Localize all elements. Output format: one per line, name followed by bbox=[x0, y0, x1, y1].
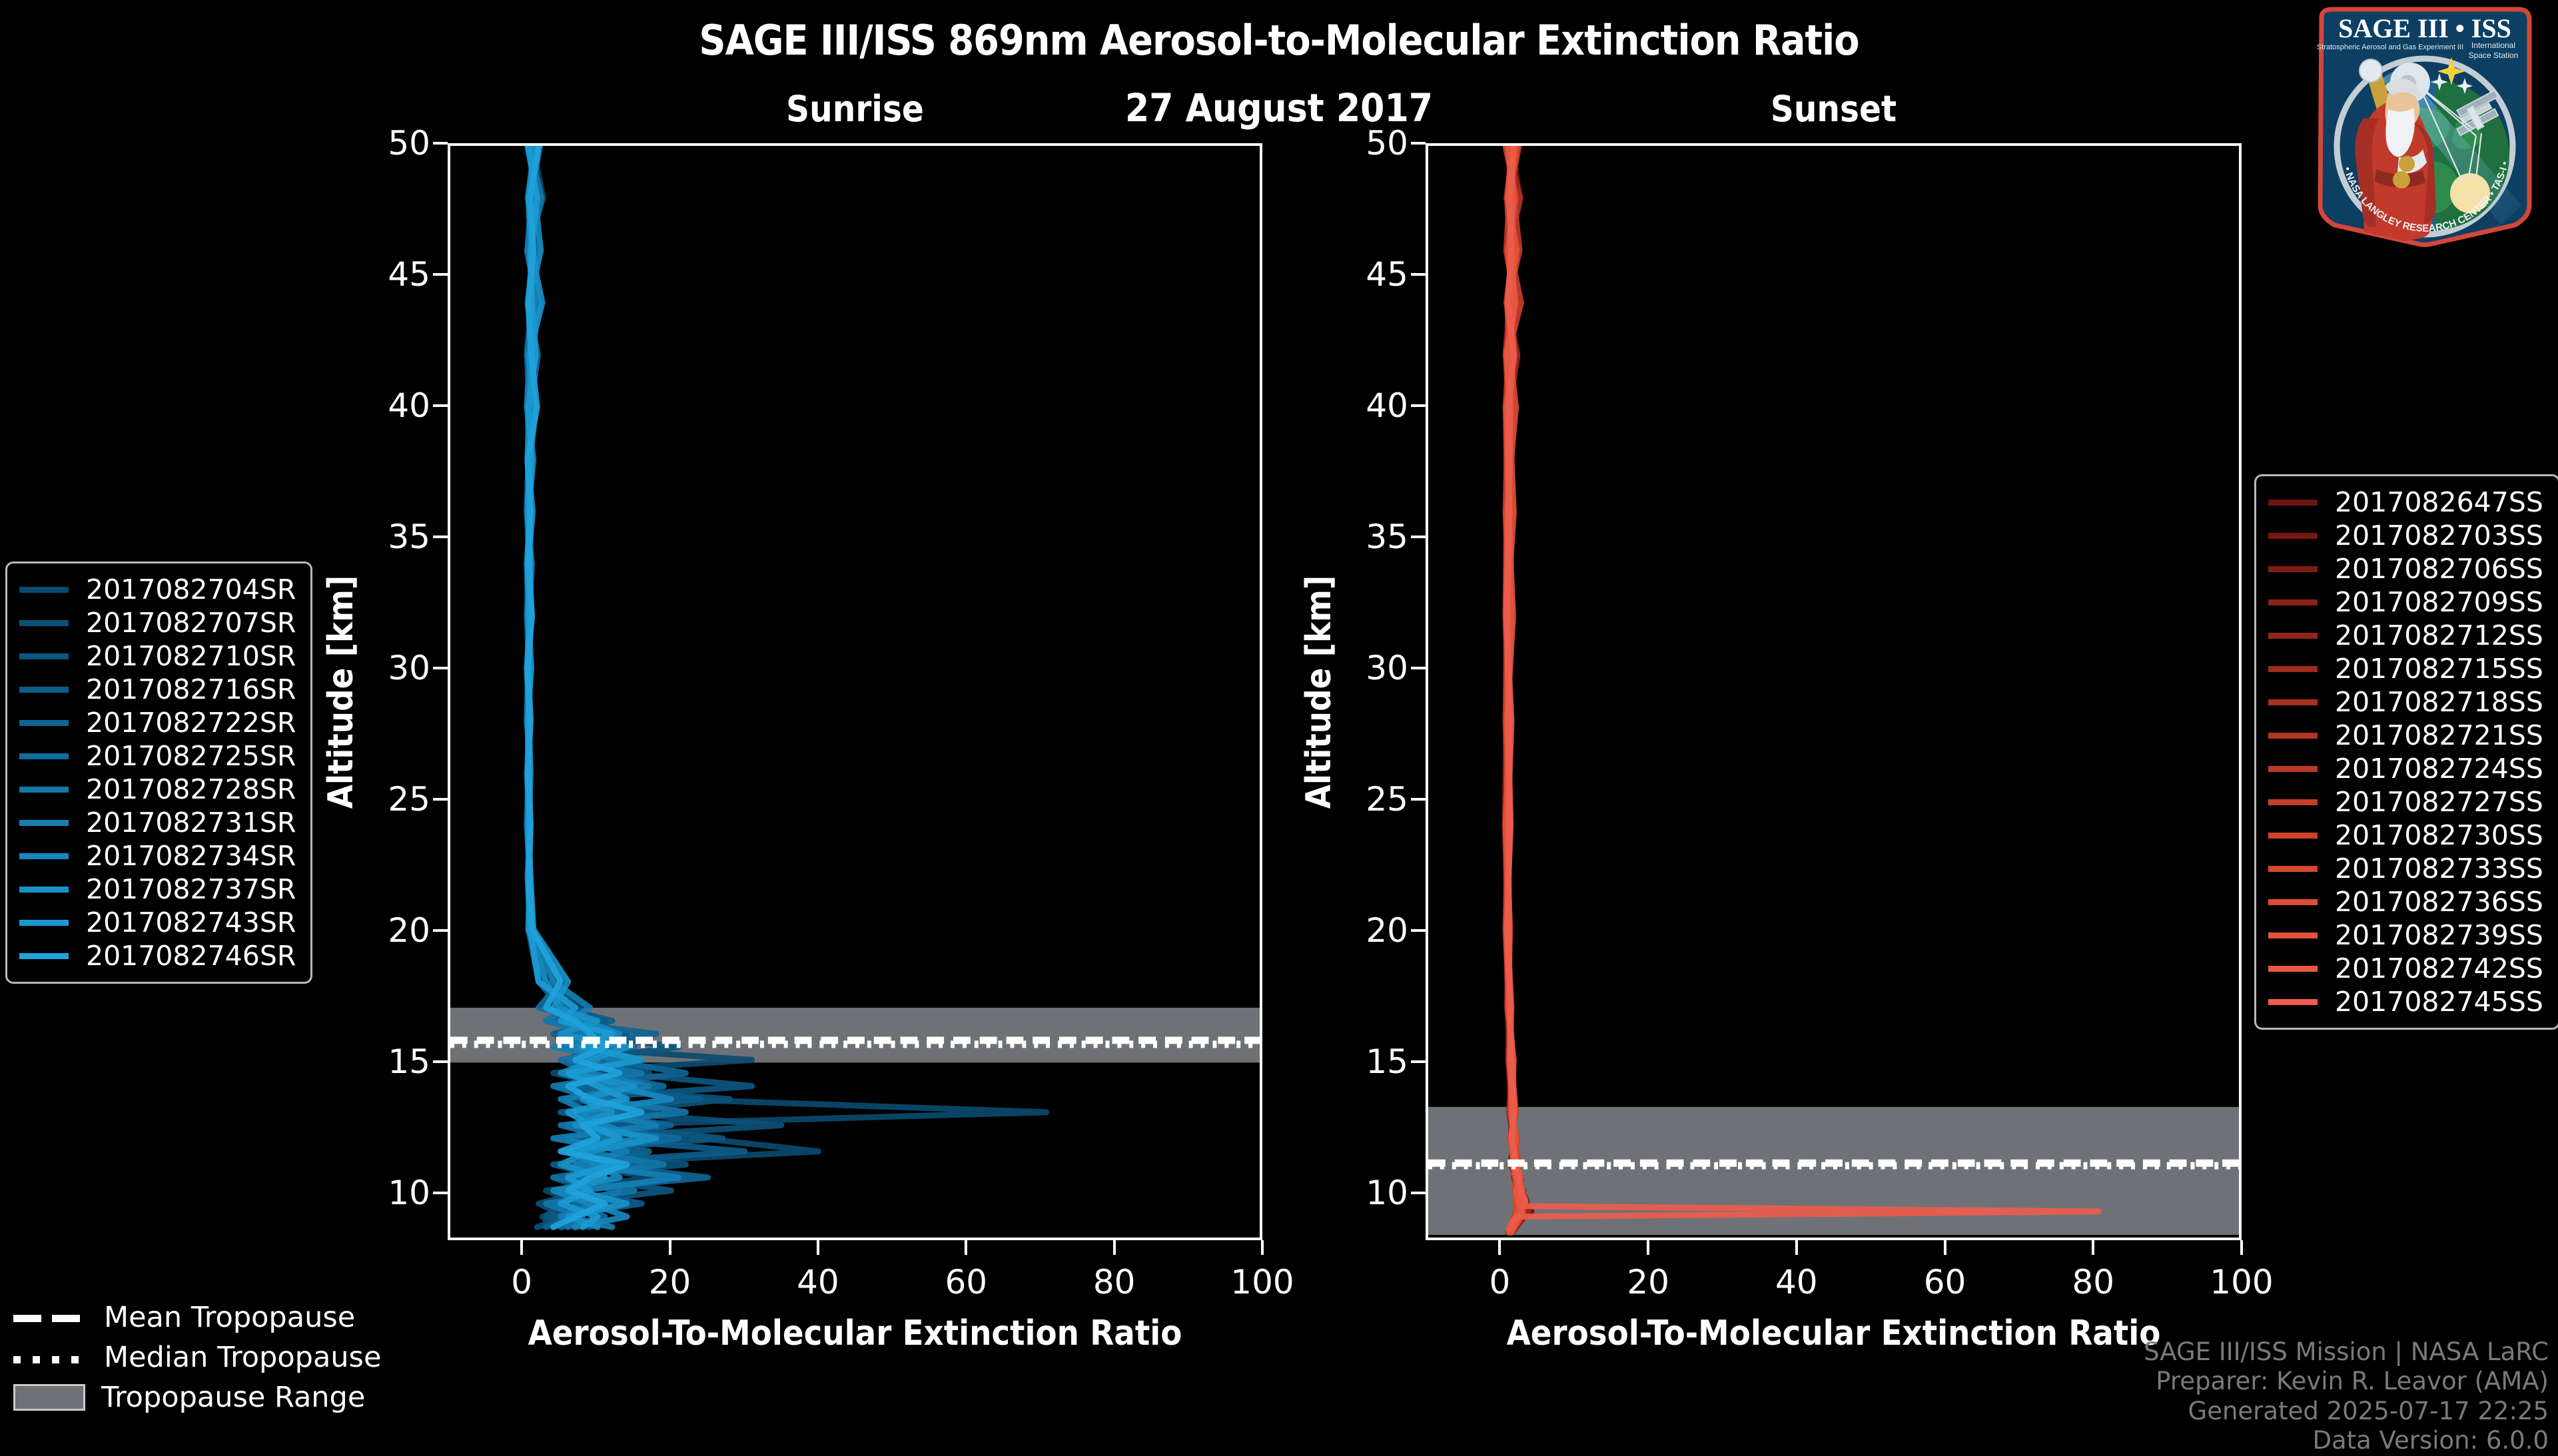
y-tick-mark bbox=[433, 1060, 448, 1063]
credits-generated: Generated 2025-07-17 22:25 bbox=[2144, 1397, 2549, 1426]
legend-color-swatch bbox=[2268, 633, 2318, 639]
x-tick-label: 100 bbox=[2210, 1263, 2273, 1301]
y-tick-mark bbox=[1411, 273, 1426, 276]
legend-color-swatch bbox=[19, 820, 69, 826]
dotted-line-icon bbox=[13, 1349, 88, 1366]
x-tick-mark bbox=[1647, 1240, 1649, 1255]
legend-color-swatch bbox=[2268, 599, 2318, 605]
y-tick-mark bbox=[1411, 1192, 1426, 1194]
credits-preparer: Preparer: Kevin R. Leavor (AMA) bbox=[2144, 1367, 2549, 1396]
x-tick-label: 60 bbox=[945, 1263, 987, 1301]
sunset-x-axis-label: Aerosol-To-Molecular Extinction Ratio bbox=[1426, 1313, 2242, 1353]
legend-item-2017082727SS[interactable]: 2017082727SS bbox=[2268, 785, 2543, 819]
x-tick-mark bbox=[817, 1240, 819, 1255]
y-tick-mark bbox=[433, 667, 448, 669]
legend-item-2017082725SR[interactable]: 2017082725SR bbox=[19, 739, 296, 773]
legend-item-label: 2017082647SS bbox=[2335, 486, 2543, 518]
y-tick-mark bbox=[1411, 536, 1426, 538]
sunrise-plot-panel: 101520253035404550020406080100 Aerosol-T… bbox=[448, 143, 1262, 1240]
credits-mission: SAGE III/ISS Mission | NASA LaRC bbox=[2144, 1337, 2549, 1367]
y-tick-mark bbox=[433, 929, 448, 932]
legend-item-label: 2017082745SS bbox=[2335, 986, 2543, 1018]
legend-color-swatch bbox=[2268, 999, 2318, 1005]
legend-item-label: 2017082724SS bbox=[2335, 753, 2543, 785]
legend-item-2017082722SR[interactable]: 2017082722SR bbox=[19, 706, 296, 739]
legend-item-label: 2017082739SS bbox=[2335, 919, 2543, 951]
patch-title: SAGE III•ISS bbox=[2338, 13, 2511, 43]
legend-color-swatch bbox=[19, 787, 69, 793]
legend-item-label: 2017082730SS bbox=[2335, 819, 2543, 851]
y-tick-label: 15 bbox=[1366, 1042, 1408, 1081]
legend-item-2017082707SR[interactable]: 2017082707SR bbox=[19, 606, 296, 639]
legend-item-label: 2017082709SS bbox=[2335, 586, 2543, 618]
sunset-legend[interactable]: 2017082647SS2017082703SS2017082706SS2017… bbox=[2254, 474, 2558, 1030]
x-tick-mark bbox=[1261, 1240, 1264, 1255]
legend-color-swatch bbox=[2268, 966, 2318, 972]
legend-item-2017082706SS[interactable]: 2017082706SS bbox=[2268, 552, 2543, 585]
legend-item-2017082731SR[interactable]: 2017082731SR bbox=[19, 806, 296, 839]
sunrise-x-axis-label: Aerosol-To-Molecular Extinction Ratio bbox=[448, 1313, 1262, 1353]
x-tick-mark bbox=[2092, 1240, 2094, 1255]
legend-item-mean-tropopause: Mean Tropopause bbox=[13, 1297, 381, 1337]
y-tick-label: 30 bbox=[388, 649, 430, 687]
legend-color-swatch bbox=[19, 753, 69, 759]
sunrise-plot-area bbox=[450, 146, 1260, 1238]
y-tick-label: 10 bbox=[388, 1174, 430, 1212]
x-tick-mark bbox=[1795, 1240, 1798, 1255]
credits-data-version: Data Version: 6.0.0 bbox=[2144, 1426, 2549, 1455]
y-tick-label: 30 bbox=[1366, 649, 1408, 687]
y-tick-mark bbox=[433, 536, 448, 538]
x-tick-mark bbox=[669, 1240, 671, 1255]
legend-item-2017082703SS[interactable]: 2017082703SS bbox=[2268, 519, 2543, 552]
y-tick-label: 20 bbox=[388, 911, 430, 950]
legend-color-swatch bbox=[19, 887, 69, 893]
y-tick-mark bbox=[433, 1192, 448, 1194]
y-tick-label: 50 bbox=[1366, 124, 1408, 163]
legend-item-2017082728SR[interactable]: 2017082728SR bbox=[19, 773, 296, 806]
y-tick-label: 10 bbox=[1366, 1174, 1408, 1212]
legend-item-2017082734SR[interactable]: 2017082734SR bbox=[19, 839, 296, 873]
legend-item-2017082745SS[interactable]: 2017082745SS bbox=[2268, 985, 2543, 1018]
credits-block: SAGE III/ISS Mission | NASA LaRC Prepare… bbox=[2144, 1337, 2549, 1456]
x-tick-label: 80 bbox=[1093, 1263, 1136, 1301]
y-tick-label: 50 bbox=[388, 124, 430, 163]
legend-item-label: 2017082722SR bbox=[86, 707, 296, 739]
y-tick-mark bbox=[433, 273, 448, 276]
y-tick-label: 45 bbox=[1366, 255, 1408, 294]
legend-item-2017082730SS[interactable]: 2017082730SS bbox=[2268, 819, 2543, 852]
y-tick-label: 15 bbox=[388, 1042, 430, 1081]
sunset-panel-title: Sunset bbox=[1426, 88, 2242, 130]
legend-color-swatch bbox=[2268, 566, 2318, 572]
x-tick-mark bbox=[1944, 1240, 1946, 1255]
y-tick-label: 25 bbox=[1366, 780, 1408, 819]
sunset-plot-panel: 101520253035404550020406080100 Aerosol-T… bbox=[1426, 143, 2242, 1240]
sunrise-y-axis-label: Altitude [km] bbox=[321, 575, 361, 808]
legend-item-label: 2017082743SR bbox=[86, 907, 296, 938]
legend-item-2017082736SS[interactable]: 2017082736SS bbox=[2268, 885, 2543, 918]
legend-item-label: 2017082734SR bbox=[86, 840, 296, 872]
legend-color-swatch bbox=[19, 920, 69, 926]
legend-item-2017082742SS[interactable]: 2017082742SS bbox=[2268, 952, 2543, 985]
legend-color-swatch bbox=[2268, 533, 2318, 539]
legend-item-2017082704SR[interactable]: 2017082704SR bbox=[19, 573, 296, 606]
sunrise-panel-title: Sunrise bbox=[448, 88, 1262, 130]
patch-caption-right-2: Space Station bbox=[2469, 51, 2519, 60]
x-tick-mark bbox=[520, 1240, 523, 1255]
legend-color-swatch bbox=[19, 687, 69, 693]
legend-item-tropopause-range: Tropopause Range bbox=[13, 1377, 381, 1417]
legend-item-label: 2017082707SR bbox=[86, 607, 296, 639]
series-line bbox=[1507, 146, 2098, 1230]
legend-item-label: 2017082704SR bbox=[86, 573, 296, 605]
legend-color-swatch bbox=[19, 620, 69, 626]
legend-color-swatch bbox=[2268, 733, 2318, 739]
x-tick-label: 60 bbox=[1924, 1263, 1966, 1301]
x-tick-label: 100 bbox=[1230, 1263, 1294, 1301]
legend-item-2017082746SR[interactable]: 2017082746SR bbox=[19, 939, 296, 972]
legend-color-swatch bbox=[2268, 899, 2318, 905]
legend-item-label: 2017082718SS bbox=[2335, 686, 2543, 718]
legend-item-2017082710SR[interactable]: 2017082710SR bbox=[19, 639, 296, 673]
y-tick-label: 45 bbox=[388, 255, 430, 294]
page-title: SAGE III/ISS 869nm Aerosol-to-Molecular … bbox=[0, 16, 2558, 65]
patch-caption-right-1: International bbox=[2471, 41, 2515, 50]
legend-item-label: 2017082737SR bbox=[86, 873, 296, 905]
legend-item-2017082724SS[interactable]: 2017082724SS bbox=[2268, 752, 2543, 785]
legend-item-median-tropopause: Median Tropopause bbox=[13, 1337, 381, 1377]
legend-color-swatch bbox=[19, 587, 69, 593]
x-tick-mark bbox=[1113, 1240, 1116, 1255]
legend-item-2017082709SS[interactable]: 2017082709SS bbox=[2268, 585, 2543, 619]
sunset-plot-area bbox=[1428, 146, 2239, 1238]
legend-item-label: 2017082742SS bbox=[2335, 952, 2543, 984]
x-tick-label: 80 bbox=[2072, 1263, 2114, 1301]
y-tick-label: 20 bbox=[1366, 911, 1408, 950]
legend-item-label: 2017082716SR bbox=[86, 673, 296, 705]
legend-color-swatch bbox=[2268, 932, 2318, 938]
y-tick-mark bbox=[433, 798, 448, 801]
sunset-plot-frame bbox=[1426, 143, 2242, 1240]
mean-tropopause-label: Mean Tropopause bbox=[104, 1301, 355, 1334]
y-tick-label: 40 bbox=[388, 386, 430, 425]
x-tick-mark bbox=[965, 1240, 967, 1255]
x-tick-mark bbox=[2240, 1240, 2243, 1255]
legend-item-label: 2017082721SS bbox=[2335, 719, 2543, 751]
y-tick-mark bbox=[433, 404, 448, 407]
legend-item-label: 2017082746SR bbox=[86, 940, 296, 972]
legend-item-label: 2017082712SS bbox=[2335, 619, 2543, 651]
legend-item-label: 2017082725SR bbox=[86, 740, 296, 772]
y-tick-mark bbox=[1411, 929, 1426, 932]
legend-color-swatch bbox=[2268, 866, 2318, 872]
y-tick-mark bbox=[433, 142, 448, 145]
x-tick-mark bbox=[1498, 1240, 1501, 1255]
legend-color-swatch bbox=[2268, 699, 2318, 705]
legend-item-2017082721SS[interactable]: 2017082721SS bbox=[2268, 719, 2543, 752]
legend-item-label: 2017082703SS bbox=[2335, 520, 2543, 551]
range-swatch-icon bbox=[13, 1384, 85, 1411]
y-tick-mark bbox=[1411, 667, 1426, 669]
sunset-y-axis-label: Altitude [km] bbox=[1299, 575, 1339, 808]
sage-iii-iss-mission-patch-logo: BALL • NASA LANGLEY RESEARCH CENTER • TA… bbox=[2302, 5, 2548, 249]
legend-color-swatch bbox=[19, 953, 69, 959]
dashed-line-icon bbox=[13, 1309, 88, 1326]
legend-item-2017082737SR[interactable]: 2017082737SR bbox=[19, 873, 296, 906]
tropopause-range-label: Tropopause Range bbox=[101, 1381, 365, 1414]
y-tick-label: 35 bbox=[1366, 518, 1408, 556]
legend-item-label: 2017082706SS bbox=[2335, 553, 2543, 585]
legend-item-label: 2017082710SR bbox=[86, 640, 296, 672]
legend-item-2017082715SS[interactable]: 2017082715SS bbox=[2268, 652, 2543, 685]
x-tick-label: 40 bbox=[1775, 1263, 1818, 1301]
legend-color-swatch bbox=[19, 853, 69, 859]
sunrise-legend[interactable]: 2017082704SR2017082707SR2017082710SR2017… bbox=[5, 561, 312, 984]
legend-color-swatch bbox=[2268, 799, 2318, 805]
legend-item-label: 2017082715SS bbox=[2335, 653, 2543, 685]
y-tick-mark bbox=[1411, 798, 1426, 801]
legend-item-2017082718SS[interactable]: 2017082718SS bbox=[2268, 685, 2543, 719]
y-tick-label: 40 bbox=[1366, 386, 1408, 425]
legend-color-swatch bbox=[2268, 500, 2318, 506]
legend-color-swatch bbox=[19, 720, 69, 726]
legend-item-2017082739SS[interactable]: 2017082739SS bbox=[2268, 918, 2543, 952]
x-tick-label: 20 bbox=[1627, 1263, 1669, 1301]
y-tick-label: 25 bbox=[388, 780, 430, 819]
x-tick-label: 0 bbox=[1489, 1263, 1510, 1301]
y-tick-mark bbox=[1411, 404, 1426, 407]
legend-item-label: 2017082736SS bbox=[2335, 886, 2543, 918]
x-tick-label: 0 bbox=[511, 1263, 532, 1301]
legend-item-2017082716SR[interactable]: 2017082716SR bbox=[19, 673, 296, 706]
x-tick-label: 40 bbox=[797, 1263, 839, 1301]
y-tick-label: 35 bbox=[388, 518, 430, 556]
legend-item-2017082712SS[interactable]: 2017082712SS bbox=[2268, 619, 2543, 652]
x-tick-label: 20 bbox=[649, 1263, 691, 1301]
legend-item-label: 2017082731SR bbox=[86, 807, 296, 839]
median-tropopause-label: Median Tropopause bbox=[104, 1341, 381, 1374]
legend-item-2017082743SR[interactable]: 2017082743SR bbox=[19, 906, 296, 939]
legend-item-label: 2017082727SS bbox=[2335, 786, 2543, 818]
legend-color-swatch bbox=[19, 653, 69, 659]
legend-item-label: 2017082733SS bbox=[2335, 853, 2543, 885]
legend-item-2017082733SS[interactable]: 2017082733SS bbox=[2268, 852, 2543, 885]
legend-color-swatch bbox=[2268, 666, 2318, 672]
legend-item-label: 2017082728SR bbox=[86, 773, 296, 805]
y-tick-mark bbox=[1411, 1060, 1426, 1063]
patch-caption-left: Stratospheric Aerosol and Gas Experiment… bbox=[2317, 43, 2463, 51]
legend-color-swatch bbox=[2268, 766, 2318, 772]
sunrise-plot-frame bbox=[448, 143, 1262, 1240]
tropopause-legend: Mean Tropopause Median Tropopause Tropop… bbox=[13, 1297, 381, 1417]
legend-color-swatch bbox=[2268, 833, 2318, 839]
legend-item-2017082647SS[interactable]: 2017082647SS bbox=[2268, 486, 2543, 519]
y-tick-mark bbox=[1411, 142, 1426, 145]
